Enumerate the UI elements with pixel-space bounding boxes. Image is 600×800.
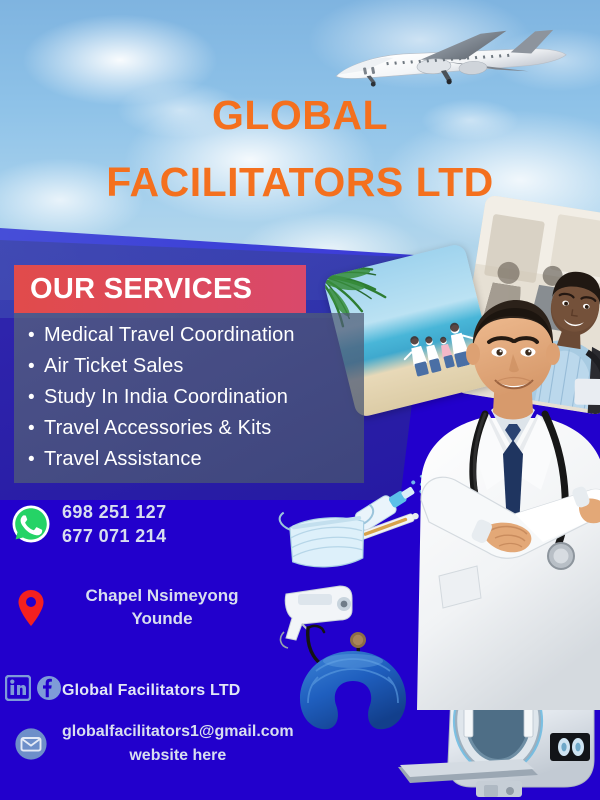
email-block: globalfacilitators1@gmail.com website he… xyxy=(62,720,294,768)
bullet-icon: • xyxy=(28,388,44,407)
address-text: Chapel Nsimeyong Younde xyxy=(62,585,262,631)
social-icons xyxy=(0,675,62,706)
poster-title: GLOBAL FACILITATORS LTD xyxy=(0,95,600,203)
services-list: • Medical Travel Coordination • Air Tick… xyxy=(28,325,368,480)
facebook-icon[interactable] xyxy=(36,675,62,706)
address-line-1: Chapel Nsimeyong xyxy=(62,585,262,608)
address-row: Chapel Nsimeyong Younde xyxy=(0,585,340,631)
footer-section: Global Facilitators LTD globalfacilitato… xyxy=(0,675,360,768)
email-row: globalfacilitators1@gmail.com website he… xyxy=(0,720,360,768)
map-pin-icon xyxy=(0,589,62,627)
service-item: • Study In India Coordination xyxy=(28,387,368,407)
bullet-icon: • xyxy=(28,326,44,345)
service-item: • Medical Travel Coordination xyxy=(28,325,368,345)
bullet-icon: • xyxy=(28,450,44,469)
contact-section: 698 251 127 677 071 214 Chapel Nsimeyong… xyxy=(0,500,340,630)
email-address[interactable]: globalfacilitators1@gmail.com xyxy=(62,723,294,740)
phone-number-2[interactable]: 677 071 214 xyxy=(62,524,167,548)
title-line-1: GLOBAL xyxy=(0,95,600,136)
social-handle: Global Facilitators LTD xyxy=(62,682,241,700)
services-heading-banner: OUR SERVICES xyxy=(14,265,306,313)
whatsapp-icon[interactable] xyxy=(0,504,62,544)
address-line-2: Younde xyxy=(62,608,262,631)
website-label[interactable]: website here xyxy=(62,744,294,768)
service-label: Study In India Coordination xyxy=(44,387,288,407)
linkedin-icon[interactable] xyxy=(5,675,31,706)
service-label: Medical Travel Coordination xyxy=(44,325,295,345)
social-row: Global Facilitators LTD xyxy=(0,675,360,706)
service-label: Travel Accessories & Kits xyxy=(44,418,271,438)
title-line-2: FACILITATORS LTD xyxy=(0,162,600,203)
phone-numbers: 698 251 127 677 071 214 xyxy=(62,500,167,549)
service-label: Air Ticket Sales xyxy=(44,356,183,376)
flyer-poster: GLOBAL FACILITATORS LTD xyxy=(0,0,600,800)
service-label: Travel Assistance xyxy=(44,449,202,469)
service-item: • Air Ticket Sales xyxy=(28,356,368,376)
envelope-icon[interactable] xyxy=(0,727,62,761)
services-heading-text: OUR SERVICES xyxy=(14,273,252,306)
service-item: • Travel Assistance xyxy=(28,449,368,469)
doctor-portrait-photo xyxy=(395,290,600,710)
phone-row: 698 251 127 677 071 214 xyxy=(0,500,340,549)
bullet-icon: • xyxy=(28,419,44,438)
service-item: • Travel Accessories & Kits xyxy=(28,418,368,438)
bullet-icon: • xyxy=(28,357,44,376)
phone-number-1[interactable]: 698 251 127 xyxy=(62,500,167,524)
